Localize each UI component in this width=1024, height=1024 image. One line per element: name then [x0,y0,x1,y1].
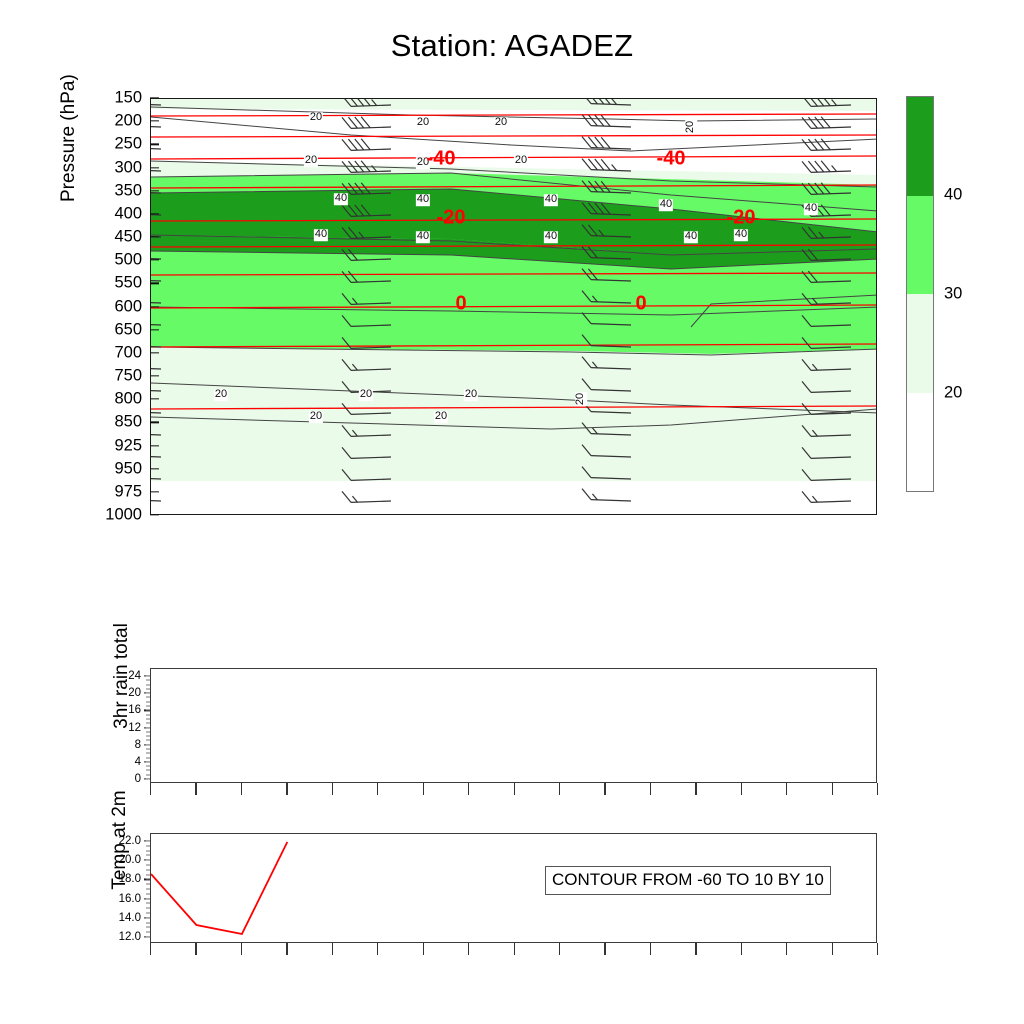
temp-xtick-mark [332,943,333,955]
rain-xtick-mark [741,783,742,795]
temp-xtick-mark [195,943,196,955]
rain-ytick-label: 4 [105,756,141,768]
temp-xtick-mark [286,943,287,955]
main-ytick-label: 925 [114,436,142,455]
rain-ytick-label: 8 [105,739,141,751]
contour-label: -20 [436,208,467,229]
colorbar-segment [907,393,933,492]
rain-xtick-mark [286,783,287,795]
main-ytick-label: 650 [114,320,142,339]
main-ytick-mark [150,468,159,469]
temp-xtick-mark [241,943,242,955]
contour-label: 20 [304,155,318,167]
rain-xtick-mark [332,783,333,795]
rain-xtick-mark [650,783,651,795]
main-ytick-mark [150,190,159,191]
figure-root: Station: AGADEZ Pressure (hPa) 150200250… [0,0,1024,1024]
contour-label: 20 [494,117,508,129]
contour-label: -20 [726,208,757,229]
main-ytick-mark [150,329,159,330]
temp-xtick-mark [786,943,787,955]
colorbar-label: 20 [944,384,962,403]
rain-xtick-mark [877,783,878,795]
main-ytick-label: 150 [114,89,142,108]
contour-label: 20 [514,155,528,167]
rain-ytick-label: 24 [105,670,141,682]
temp-xtick-mark [468,943,469,955]
contour-label: 40 [659,199,673,211]
main-ytick-label: 550 [114,274,142,293]
contour-label: 20 [685,120,697,134]
contour-label: 0 [454,294,467,315]
contour-label: 40 [416,231,430,243]
main-ytick-label: 800 [114,390,142,409]
wind-cross-section-panel: 2020202020202040404040404040404040202020… [150,98,877,515]
contour-label: 20 [309,112,323,124]
temp-ytick-label: 18.0 [92,873,141,885]
main-ytick-mark [150,144,159,145]
main-ytick-mark [150,514,159,515]
rain-ytick-label: 12 [105,722,141,734]
rain-panel [150,668,877,783]
contour-range-annotation: CONTOUR FROM -60 TO 10 BY 10 [545,866,831,895]
main-ytick-label: 400 [114,204,142,223]
main-ytick-label: 250 [114,135,142,154]
temp-xtick-mark [559,943,560,955]
main-ytick-label: 975 [114,482,142,501]
rain-ytick-label: 16 [105,704,141,716]
contour-label: 40 [334,193,348,205]
main-ytick-mark [150,121,159,122]
main-ytick-label: 1000 [105,506,142,525]
main-ytick-label: 350 [114,181,142,200]
contour-label: 20 [309,411,323,423]
temp-ytick-label: 16.0 [92,893,141,905]
temp-xtick-mark [877,943,878,955]
contour-label: 0 [634,294,647,315]
contour-label: 40 [416,194,430,206]
colorbar-segment [907,196,933,296]
contour-label: -40 [426,149,457,170]
temp-xtick-mark [695,943,696,955]
temp-xtick-mark [514,943,515,955]
main-ytick-label: 600 [114,297,142,316]
rain-xtick-mark [241,783,242,795]
rain-xtick-mark [195,783,196,795]
rain-series [151,669,878,784]
temp-ytick-label: 22.0 [92,835,141,847]
rain-xtick-mark [559,783,560,795]
rain-xtick-mark [423,783,424,795]
colorbar-segment [907,294,933,394]
rain-ytick-label: 20 [105,687,141,699]
main-ytick-label: 450 [114,228,142,247]
main-ytick-mark [150,167,159,168]
main-ytick-mark [150,399,159,400]
rain-xtick-mark [468,783,469,795]
temp-xtick-mark [650,943,651,955]
page-title: Station: AGADEZ [0,28,1024,64]
contour-label: 40 [804,203,818,215]
colorbar-label: 40 [944,186,962,205]
rain-xtick-mark [786,783,787,795]
main-ytick-label: 700 [114,343,142,362]
rain-xtick-mark [377,783,378,795]
colorbar-segment [907,97,933,197]
contour-label: 20 [416,117,430,129]
temp-ytick-label: 14.0 [92,912,141,924]
main-ytick-mark [150,97,159,98]
main-ytick-mark [150,236,159,237]
main-ytick-mark [150,422,159,423]
main-ytick-mark [150,352,159,353]
temp-xtick-mark [377,943,378,955]
main-ytick-mark [150,491,159,492]
rain-xtick-mark [604,783,605,795]
rain-xtick-mark [514,783,515,795]
temp-ytick-label: 20.0 [92,854,141,866]
temp-xtick-mark [604,943,605,955]
main-ytick-label: 950 [114,459,142,478]
temp-xtick-mark [150,943,151,955]
contour-label: 20 [359,389,373,401]
main-ytick-mark [150,213,159,214]
main-ytick-label: 500 [114,251,142,270]
contour-label: 40 [734,229,748,241]
contour-label: 40 [544,231,558,243]
rain-xtick-mark [832,783,833,795]
main-ylabel: Pressure (hPa) [58,172,80,202]
temp-xtick-mark [741,943,742,955]
main-ytick-label: 850 [114,413,142,432]
contour-label: 20 [575,392,587,406]
temp-ytick-label: 12.0 [92,931,141,943]
colorbar-label: 30 [944,285,962,304]
main-ytick-mark [150,260,159,261]
temp-xtick-mark [832,943,833,955]
contour-label: -40 [656,149,687,170]
main-ytick-label: 200 [114,112,142,131]
contour-label: 40 [544,194,558,206]
main-ytick-label: 750 [114,367,142,386]
contour-label: 20 [464,389,478,401]
contour-label: 20 [434,411,448,423]
temp-xtick-mark [423,943,424,955]
main-ytick-label: 300 [114,158,142,177]
rain-xtick-mark [695,783,696,795]
contour-label: 20 [214,389,228,401]
main-ytick-mark [150,283,159,284]
rain-xtick-mark [150,783,151,795]
main-ytick-mark [150,375,159,376]
main-ytick-mark [150,445,159,446]
contour-label: 40 [684,231,698,243]
main-yaxis-ticks: 1502002503003504004505005506006507007508… [90,98,146,515]
main-ytick-mark [150,306,159,307]
colorbar [906,96,934,492]
contour-label: 40 [314,229,328,241]
